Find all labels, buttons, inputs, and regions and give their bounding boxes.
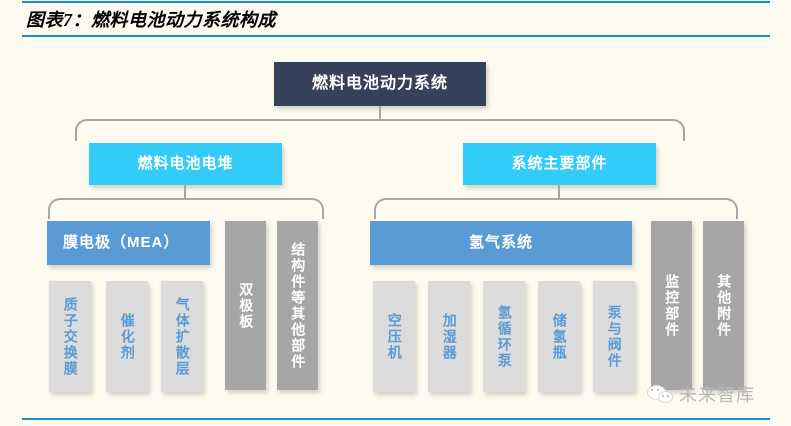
node-group-mea[interactable]: 膜电极（MEA） bbox=[47, 221, 210, 265]
node-leaf-catalyst[interactable]: 催化剂 bbox=[106, 281, 148, 392]
connector-left-branch-stem bbox=[184, 185, 186, 199]
node-label: 氢循环泵 bbox=[496, 305, 511, 369]
node-leaf-pumps-and-valves[interactable]: 泵与阀件 bbox=[593, 281, 635, 392]
node-label: 双极板 bbox=[238, 282, 253, 330]
node-leaf-humidifier[interactable]: 加湿器 bbox=[428, 281, 470, 392]
connector-left-branch-bracket bbox=[48, 198, 324, 219]
node-label: 储氢瓶 bbox=[551, 313, 566, 361]
node-branch-fuel-cell-stack[interactable]: 燃料电池电堆 bbox=[89, 143, 282, 185]
node-leaf-hydrogen-recirculation-pump[interactable]: 氢循环泵 bbox=[483, 281, 525, 392]
wechat-icon bbox=[647, 384, 673, 404]
figure-container: 图表7：燃料电池动力系统构成 燃料电池动力系统 燃料电池电堆 膜电极（MEA） … bbox=[0, 0, 791, 426]
node-leaf-other-accessories[interactable]: 其他附件 bbox=[703, 221, 744, 390]
node-label: 泵与阀件 bbox=[606, 305, 621, 369]
node-leaf-monitoring-components[interactable]: 监控部件 bbox=[651, 221, 692, 390]
connector-root-stem bbox=[379, 106, 381, 120]
node-branch-system-main-components[interactable]: 系统主要部件 bbox=[463, 143, 656, 185]
node-group-hydrogen-system[interactable]: 氢气系统 bbox=[370, 221, 632, 265]
node-leaf-gas-diffusion-layer[interactable]: 气体扩散层 bbox=[161, 281, 203, 392]
node-label: 空压机 bbox=[386, 313, 401, 361]
watermark-text: 未来智库 bbox=[679, 381, 755, 407]
node-label: 气体扩散层 bbox=[174, 297, 189, 377]
node-leaf-bipolar-plate[interactable]: 双极板 bbox=[225, 221, 266, 390]
node-label: 催化剂 bbox=[119, 313, 134, 361]
connector-right-branch-bracket bbox=[374, 198, 738, 219]
title-rule-top bbox=[22, 1, 770, 3]
node-leaf-hydrogen-storage-tank[interactable]: 储氢瓶 bbox=[538, 281, 580, 392]
node-label: 监控部件 bbox=[664, 274, 679, 338]
node-leaf-structural-parts-other[interactable]: 结构件等其他部件 bbox=[277, 221, 318, 390]
node-label: 质子交换膜 bbox=[62, 297, 77, 377]
watermark: 未来智库 bbox=[647, 381, 755, 407]
bottom-rule bbox=[22, 418, 770, 420]
connector-root-bracket bbox=[75, 119, 685, 141]
title-rule-bottom bbox=[22, 35, 770, 37]
node-label: 加湿器 bbox=[441, 313, 456, 361]
node-label: 结构件等其他部件 bbox=[290, 242, 305, 370]
connector-right-branch-stem bbox=[558, 185, 560, 199]
node-label: 其他附件 bbox=[716, 274, 731, 338]
node-leaf-proton-exchange-membrane[interactable]: 质子交换膜 bbox=[49, 281, 91, 392]
node-root[interactable]: 燃料电池动力系统 bbox=[274, 62, 486, 106]
node-leaf-air-compressor[interactable]: 空压机 bbox=[373, 281, 415, 392]
page-title: 图表7：燃料电池动力系统构成 bbox=[26, 6, 276, 32]
